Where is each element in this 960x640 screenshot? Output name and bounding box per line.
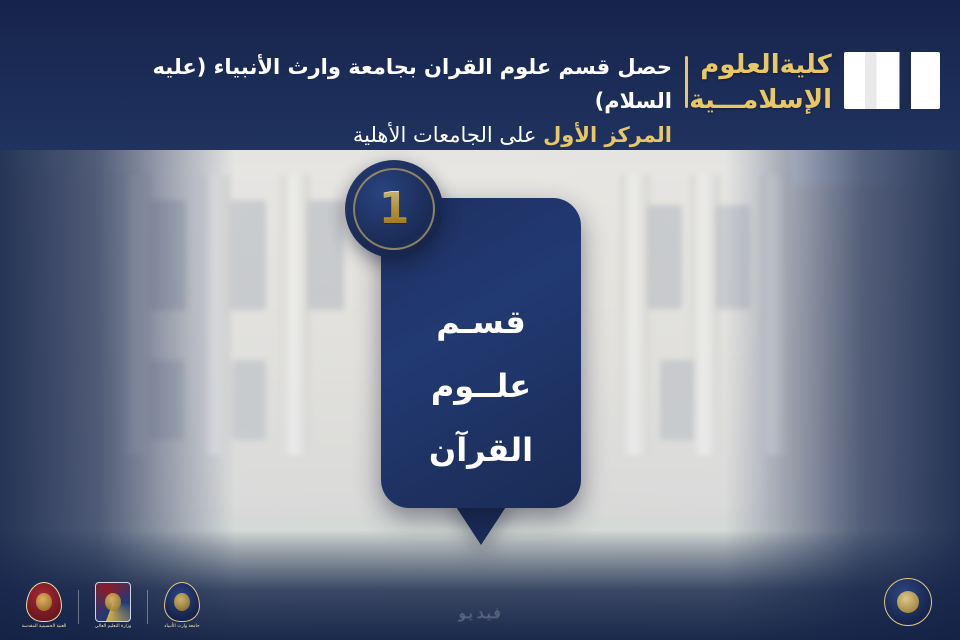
poster-canvas: كلية‌العلوم الإسلامـــية حصل قسم علوم ال… xyxy=(0,0,960,640)
header-content: كلية‌العلوم الإسلامـــية حصل قسم علوم ال… xyxy=(0,0,960,150)
rank-badge: 1 xyxy=(345,160,443,258)
college-name: كلية‌العلوم الإسلامـــية xyxy=(700,48,832,118)
logo-caption: جامعة وارث الأنبياء xyxy=(164,624,199,629)
headline-line-2-suffix: على الجامعات الأهلية xyxy=(353,123,537,147)
department-name-line-1: قسـم xyxy=(381,290,581,354)
center-pin-group: قسـم علــوم القرآن 1 xyxy=(381,160,581,550)
crest-shape xyxy=(95,582,131,622)
footer-divider xyxy=(147,590,148,624)
headline-text: حصل قسم علوم القران بجامعة وارث الأنبياء… xyxy=(100,50,672,152)
headline-line-1: حصل قسم علوم القران بجامعة وارث الأنبياء… xyxy=(153,55,672,113)
footer-logo-row: جامعة وارث الأنبياء وزارة التعليم العالي… xyxy=(22,580,204,630)
department-name-line-2: علــوم xyxy=(381,354,581,418)
crest-shape xyxy=(26,582,62,622)
college-name-line-2: الإسلامـــية xyxy=(700,83,832,118)
header-band: كلية‌العلوم الإسلامـــية حصل قسم علوم ال… xyxy=(0,0,960,150)
rank-badge-ring: 1 xyxy=(353,168,435,250)
logo-college-seal xyxy=(884,578,932,626)
crest-shape xyxy=(164,582,200,622)
rank-number: 1 xyxy=(379,187,410,231)
crest-emblem xyxy=(36,593,52,611)
logo-atabat: العتبة الحسينية المقدسة xyxy=(22,580,66,630)
header-divider xyxy=(685,56,688,108)
seal-emblem xyxy=(897,591,919,613)
department-name: قسـم علــوم القرآن xyxy=(381,290,581,482)
crest-emblem xyxy=(105,593,121,611)
footer-divider xyxy=(78,590,79,624)
logo-ministry: وزارة التعليم العالي xyxy=(91,580,135,630)
department-name-line-3: القرآن xyxy=(381,418,581,482)
logo-caption: وزارة التعليم العالي xyxy=(95,624,131,629)
video-watermark: فيديو xyxy=(457,604,502,622)
logo-caption: العتبة الحسينية المقدسة xyxy=(22,624,67,629)
headline-highlight: المركز الأول xyxy=(543,123,672,147)
logo-university-warith: جامعة وارث الأنبياء xyxy=(160,580,204,630)
crest-emblem xyxy=(174,593,190,611)
college-name-line-1: كلية‌العلوم xyxy=(700,48,832,83)
university-logo xyxy=(844,52,940,109)
